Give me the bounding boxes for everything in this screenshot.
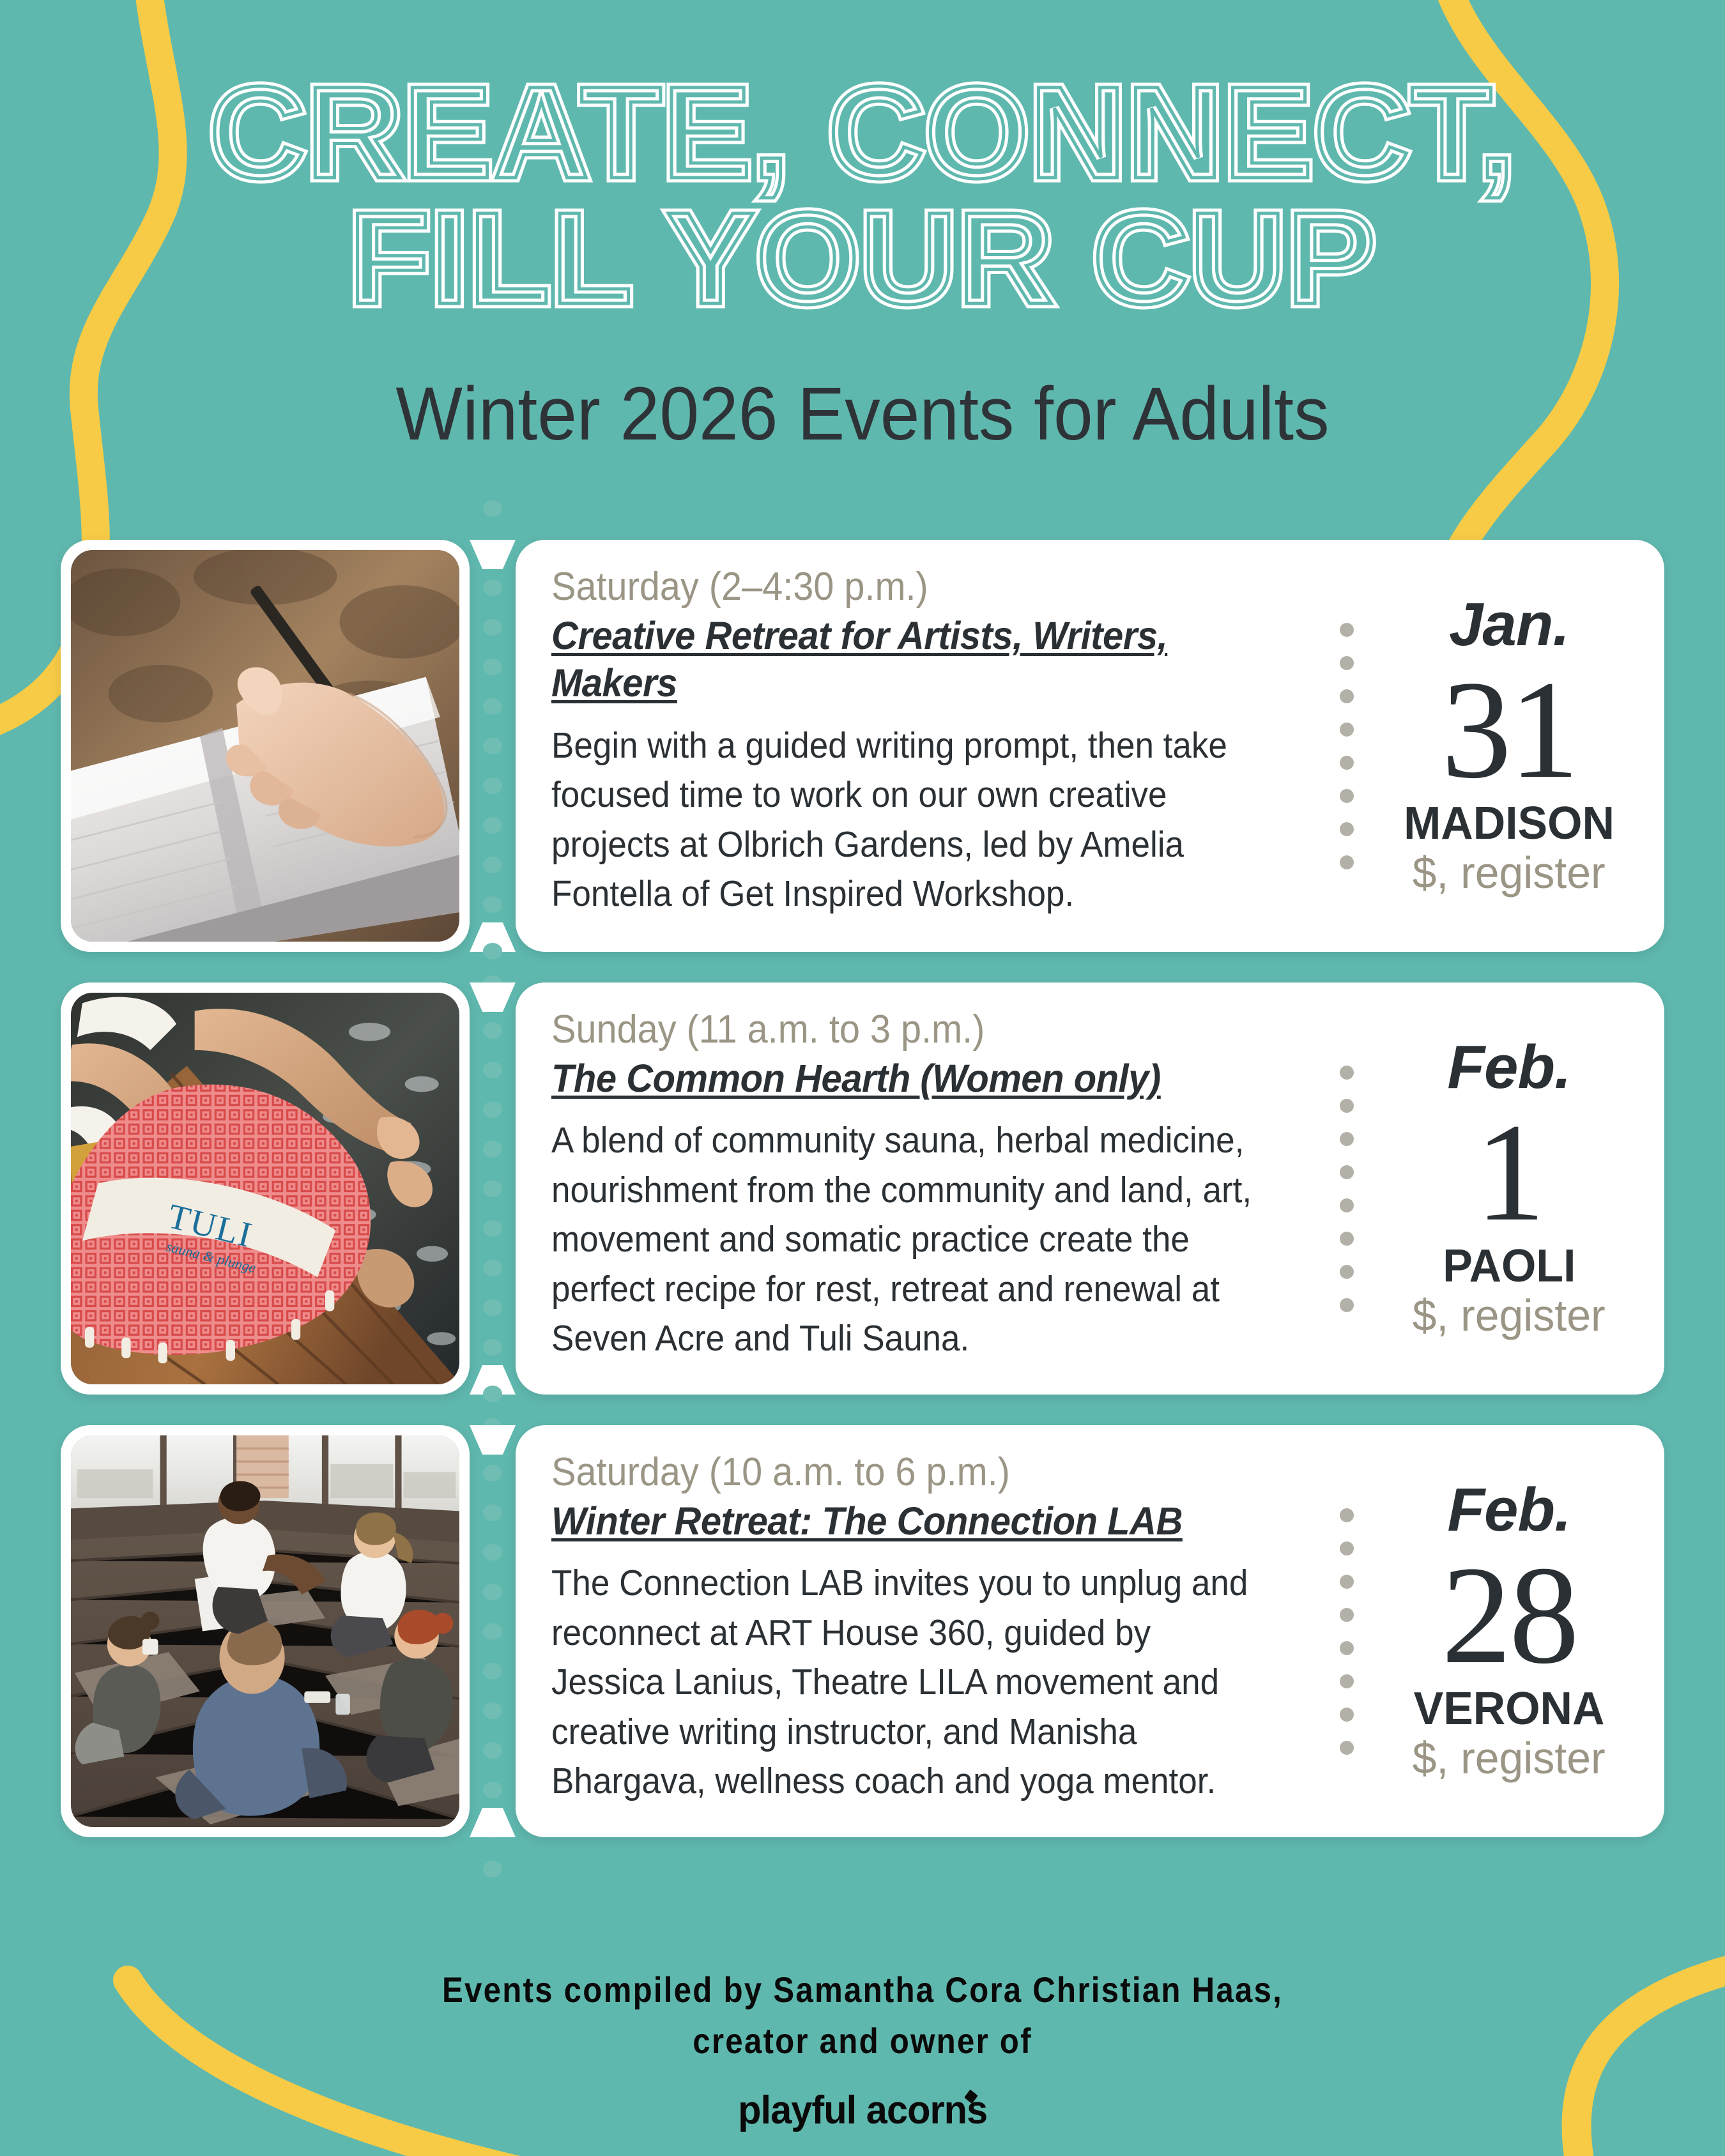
event-photo-card [61, 540, 470, 952]
event-info-card: Saturday (10 a.m. to 6 p.m.) Winter Retr… [516, 1425, 1664, 1837]
event-month: Feb. [1447, 1037, 1570, 1098]
event-when: Sunday (11 a.m. to 3 p.m.) [551, 1007, 1270, 1052]
event-title[interactable]: Creative Retreat for Artists, Writers, M… [551, 612, 1286, 707]
event-photo-sauna-dock: TULI sauna & plunge [71, 993, 459, 1384]
poster-footer: Events compiled by Samantha Cora Christi… [0, 1964, 1725, 2133]
event-description: The Connection LAB invites you to unplug… [551, 1559, 1270, 1807]
event-price-register[interactable]: $, register [1413, 1291, 1606, 1340]
event-row[interactable]: Saturday (2–4:30 p.m.) Creative Retreat … [0, 540, 1725, 952]
event-date-block: Feb. 28 VERONA $, register [1364, 1425, 1664, 1837]
event-info-card: Sunday (11 a.m. to 3 p.m.) The Common He… [516, 982, 1664, 1395]
headline-line-1-inline: CREATE, CONNECT, [0, 70, 1725, 196]
event-day: 31 [1441, 658, 1577, 801]
event-row[interactable]: Saturday (10 a.m. to 6 p.m.) Winter Retr… [0, 1425, 1725, 1837]
event-photo-journal-writing [71, 550, 459, 942]
grey-dot-divider [1330, 982, 1364, 1395]
event-info-text: Saturday (2–4:30 p.m.) Creative Retreat … [516, 540, 1330, 952]
headline-line-2: FILL YOUR CUP FILL YOUR CUP [0, 196, 1725, 322]
teal-dot-column [483, 1386, 502, 1877]
event-card-perforation [470, 982, 516, 1395]
event-row[interactable]: TULI sauna & plunge [0, 982, 1725, 1395]
teal-dot-column [483, 943, 502, 1435]
event-info-card: Saturday (2–4:30 p.m.) Creative Retreat … [516, 540, 1664, 952]
poster-headline: CREATE, CONNECT, CREATE, CONNECT, FILL Y… [0, 70, 1725, 322]
event-photo-group-circle [71, 1435, 459, 1827]
footer-credit-line-2: creator and owner of [103, 2015, 1621, 2067]
event-date-block: Feb. 1 PAOLI $, register [1364, 982, 1664, 1395]
grey-dot-divider [1330, 540, 1364, 952]
event-when: Saturday (10 a.m. to 6 p.m.) [551, 1449, 1270, 1495]
group-sitting-in-circle-icon [71, 1435, 459, 1827]
event-card-perforation [470, 1425, 516, 1837]
footer-credit-line-1: Events compiled by Samantha Cora Christi… [103, 1964, 1621, 2015]
event-info-text: Saturday (10 a.m. to 6 p.m.) Winter Retr… [516, 1425, 1330, 1837]
event-city: PAOLI [1443, 1242, 1575, 1291]
grey-dot-divider [1330, 1425, 1364, 1837]
event-title[interactable]: Winter Retreat: The Connection LAB [551, 1497, 1286, 1545]
playful-acorns-logo[interactable]: playful acorns [738, 2088, 987, 2133]
event-description: Begin with a guided writing prompt, then… [551, 721, 1270, 919]
event-city: VERONA [1414, 1685, 1605, 1734]
event-price-register[interactable]: $, register [1413, 1734, 1606, 1783]
event-price-register[interactable]: $, register [1413, 848, 1606, 898]
event-when: Saturday (2–4:30 p.m.) [551, 564, 1270, 609]
event-month: Feb. [1447, 1479, 1570, 1541]
event-info-text: Sunday (11 a.m. to 3 p.m.) The Common He… [516, 982, 1330, 1395]
headline-line-2-inline: FILL YOUR CUP [0, 196, 1725, 322]
playful-acorns-logo-text: playful acorns [738, 2088, 987, 2132]
event-month: Jan. [1449, 594, 1569, 655]
event-title[interactable]: The Common Hearth (Women only) [551, 1055, 1286, 1102]
poster-subtitle: Winter 2026 Events for Adults [52, 371, 1673, 457]
hand-writing-in-journal-icon [71, 550, 459, 942]
person-on-dock-with-towel-icon: TULI sauna & plunge [71, 993, 459, 1384]
teal-dot-column [483, 500, 502, 992]
event-photo-card [61, 1425, 470, 1837]
event-description: A blend of community sauna, herbal medic… [551, 1116, 1270, 1364]
event-photo-card: TULI sauna & plunge [61, 982, 470, 1395]
poster-canvas: CREATE, CONNECT, CREATE, CONNECT, FILL Y… [0, 0, 1725, 2156]
event-day: 1 [1475, 1101, 1543, 1244]
events-list: Saturday (2–4:30 p.m.) Creative Retreat … [0, 540, 1725, 1868]
headline-line-1: CREATE, CONNECT, CREATE, CONNECT, [0, 70, 1725, 196]
event-city: MADISON [1404, 800, 1614, 848]
event-day: 28 [1441, 1543, 1577, 1686]
event-card-perforation [470, 540, 516, 952]
event-date-block: Jan. 31 MADISON $, register [1364, 540, 1664, 952]
